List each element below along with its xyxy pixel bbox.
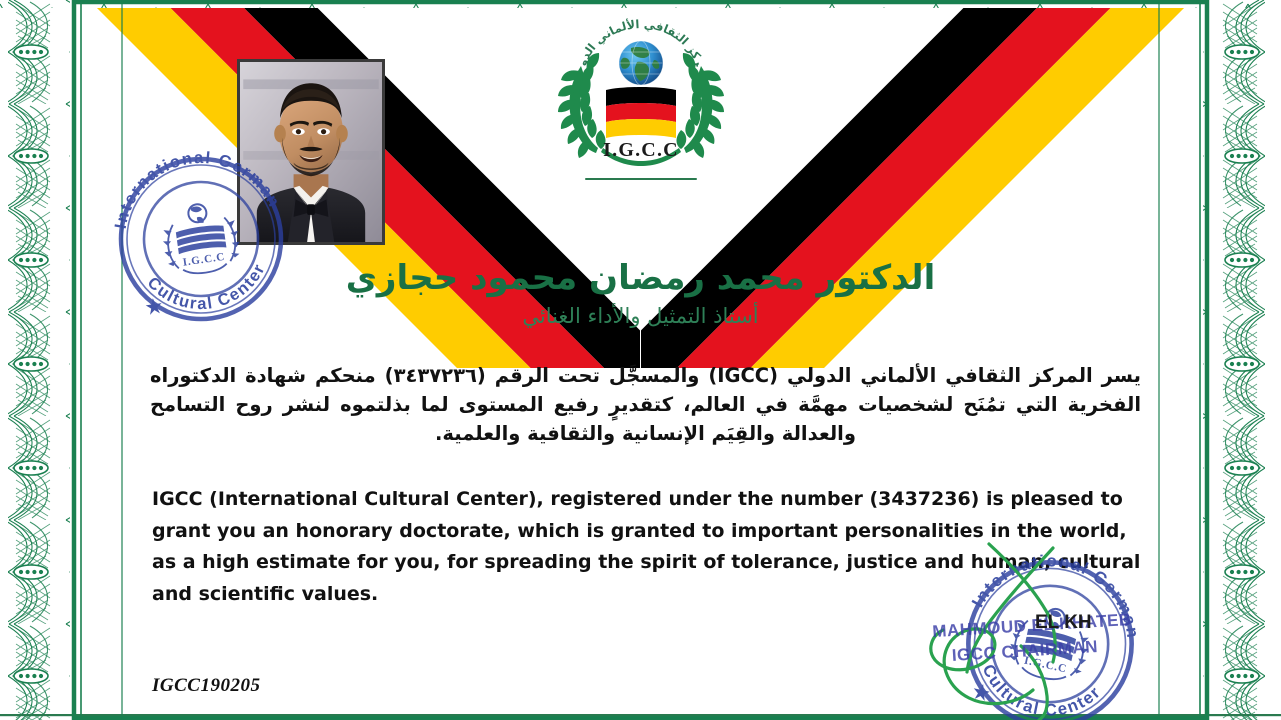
logo-acronym: I.G.C.C	[603, 139, 679, 161]
logo-divider	[585, 178, 697, 180]
globe-icon	[619, 41, 663, 85]
portrait-photo	[237, 59, 385, 245]
reference-number: IGCC190205	[152, 675, 260, 697]
citation-text-arabic: يسر المركز الثقافي الألماني الدولي (IGCC…	[150, 362, 1141, 449]
chairman-signature-block: MAHMOUD EL KHATEB IGCC CHAIRMAN	[932, 608, 1134, 669]
igcc-logo-icon: المركز الثقافي الألماني الدولي	[551, 6, 731, 171]
border-lace-right	[1203, 0, 1265, 720]
citation-en-line-2: grant you an honorary doctorate, which i…	[152, 516, 1161, 548]
honoree-title: أستاذ التمثيل والأداء الغنائي	[0, 303, 1281, 330]
border-lace-bottom	[0, 714, 1281, 716]
citation-en-line-1: IGCC (International Cultural Center), re…	[152, 484, 1161, 516]
citation-text-english: IGCC (International Cultural Center), re…	[152, 484, 1161, 610]
stamp-arc-bottom-text: Cultural Center	[971, 658, 1107, 720]
citation-en-line-3: as a high estimate for you, for spreadin…	[152, 547, 1161, 579]
border-lace-left	[8, 0, 70, 720]
chairman-overlay-text: EL KH	[1035, 612, 1092, 634]
citation-en-line-4: and scientific values.	[152, 579, 1161, 611]
honoree-name: الدكتور محمد رمضان محمود حجازي	[0, 258, 1281, 298]
honoree-block: الدكتور محمد رمضان محمود حجازي أستاذ الت…	[0, 258, 1281, 330]
certificate-page: المركز الثقافي الألماني الدولي	[0, 0, 1281, 720]
igcc-logo: المركز الثقافي الألماني الدولي	[536, 6, 746, 180]
german-flag-banner-icon	[606, 87, 676, 138]
